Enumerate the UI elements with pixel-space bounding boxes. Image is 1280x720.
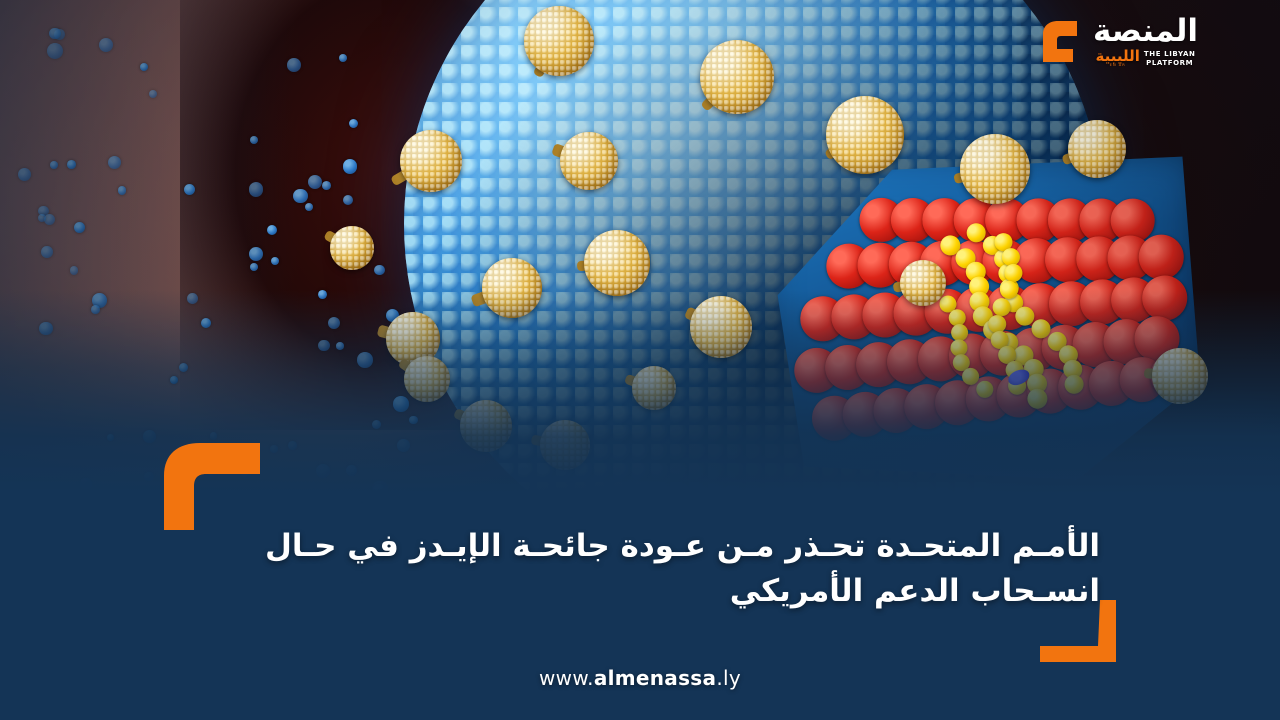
logo-arabic-sub: الليبية <box>1096 49 1140 64</box>
logo-arabic-main: المنصة <box>1093 16 1198 47</box>
logo-arabic-sub-wrap: الليبية EN AR <box>1096 49 1140 68</box>
logo-wordmark: المنصة THE LIBYAN PLATFORM الليبية EN AR <box>1093 16 1198 68</box>
logo-tiny-text: EN AR <box>1110 64 1126 68</box>
site-logo[interactable]: المنصة THE LIBYAN PLATFORM الليبية EN AR <box>1033 16 1198 68</box>
url-tld: .ly <box>716 666 741 690</box>
logo-english-line1: THE LIBYAN <box>1144 50 1196 59</box>
site-url[interactable]: www.almenassa.ly <box>0 666 1280 690</box>
url-prefix: www. <box>539 666 594 690</box>
logo-subtitle-row: THE LIBYAN PLATFORM الليبية EN AR <box>1096 49 1196 68</box>
headline-line-1: الأمـم المتحـدة تحـذر مـن عـودة جائحـة ا… <box>265 528 1100 609</box>
logo-english-text: THE LIBYAN PLATFORM <box>1144 50 1196 68</box>
logo-english-line2: PLATFORM <box>1144 59 1196 68</box>
almenassa-bracket-mark-icon <box>1033 16 1085 68</box>
url-name: almenassa <box>594 666 717 690</box>
news-card: المنصة THE LIBYAN PLATFORM الليبية EN AR… <box>0 0 1280 720</box>
headline-line-2: الدعم الأمريكي <box>730 573 960 609</box>
headline: الأمـم المتحـدة تحـذر مـن عـودة جائحـة ا… <box>220 524 1100 615</box>
decor-bracket-top-left-icon <box>160 440 264 530</box>
